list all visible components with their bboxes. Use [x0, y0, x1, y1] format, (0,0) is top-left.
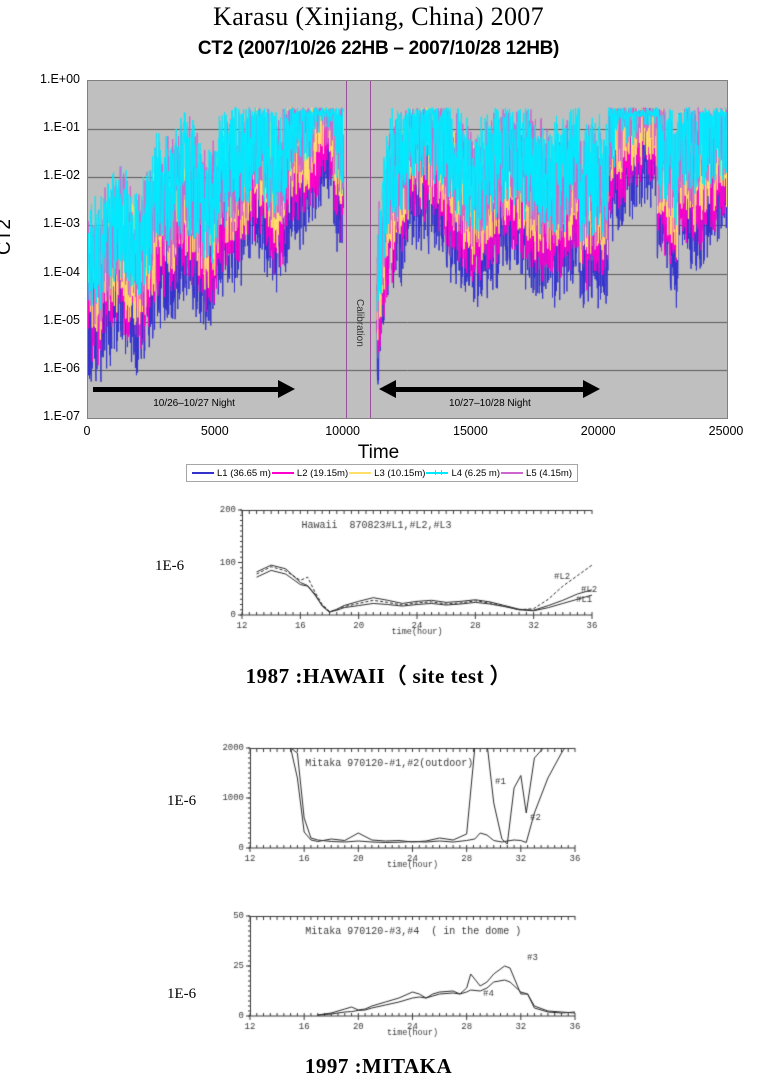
mitaka-caption: 1997 :MITAKA	[0, 1054, 757, 1079]
calibration-label: Calibration	[354, 299, 365, 347]
y-tick-label: 1.E-02	[10, 168, 80, 182]
legend-item-l5[interactable]: L5 (4.15m)	[501, 468, 572, 479]
night-2-label: 10/27–10/28 Night	[379, 398, 600, 409]
mitaka-outdoor-plot: 1E-6	[0, 730, 757, 880]
y-axis-title: CT2	[0, 219, 16, 255]
hawaii-caption: 1987 :HAWAII（ site test ）	[0, 660, 757, 690]
mitaka-dome-y-unit: 1E-6	[167, 986, 196, 1003]
hawaii-plot: 1E-6	[0, 498, 757, 643]
chart-legend: L1 (36.65 m)L2 (19.15m)L3 (10.15m)L4 (6.…	[186, 464, 578, 482]
legend-item-l2[interactable]: L2 (19.15m)	[272, 468, 348, 479]
legend-item-l1[interactable]: L1 (36.65 m)	[192, 468, 271, 479]
x-axis-title: Time	[0, 442, 757, 464]
hawaii-canvas	[196, 498, 626, 643]
y-tick-label: 1.E-05	[10, 313, 80, 327]
plot-area: Calibration 10/26–10/27 Night 10/27–10/2…	[87, 80, 728, 419]
hawaii-y-unit: 1E-6	[155, 558, 184, 575]
legend-item-l4[interactable]: L4 (6.25 m)	[426, 468, 500, 479]
y-tick-label: 1.E-06	[10, 361, 80, 375]
y-tick-label: 1.E-01	[10, 120, 80, 134]
mitaka-dome-canvas	[200, 898, 590, 1043]
y-tick-label: 1.E-04	[10, 265, 80, 279]
legend-swatch-icon	[426, 472, 448, 474]
x-tick-label: 0	[84, 424, 91, 438]
calibration-line-start	[346, 81, 347, 418]
legend-swatch-icon	[272, 472, 294, 474]
x-tick-label: 5000	[201, 424, 229, 438]
page-title: Karasu (Xinjiang, China) 2007	[0, 2, 757, 32]
legend-label: L1 (36.65 m)	[217, 468, 271, 479]
y-tick-label: 1.E-03	[10, 216, 80, 230]
x-tick-label: 25000	[709, 424, 744, 438]
y-tick-label: 1.E-07	[10, 409, 80, 423]
x-tick-label: 15000	[453, 424, 488, 438]
mitaka-outdoor-y-unit: 1E-6	[167, 793, 196, 810]
night-1-annotation: 10/26–10/27 Night	[93, 380, 295, 398]
y-tick-label: 1.E+00	[10, 72, 80, 86]
legend-swatch-icon	[192, 472, 214, 474]
legend-label: L5 (4.15m)	[526, 468, 572, 479]
night-2-annotation: 10/27–10/28 Night	[379, 380, 600, 398]
legend-swatch-icon	[349, 472, 371, 474]
page-subtitle: CT2 (2007/10/26 22HB – 2007/10/28 12HB)	[0, 38, 757, 60]
legend-item-l3[interactable]: L3 (10.15m)	[349, 468, 425, 479]
series-canvas	[88, 81, 727, 418]
legend-label: L3 (10.15m)	[374, 468, 425, 479]
calibration-line-end	[370, 81, 371, 418]
legend-label: L2 (19.15m)	[297, 468, 348, 479]
night-1-label: 10/26–10/27 Night	[93, 398, 295, 409]
legend-swatch-icon	[501, 472, 523, 474]
mitaka-outdoor-canvas	[200, 730, 590, 880]
x-tick-label: 10000	[325, 424, 360, 438]
legend-label: L4 (6.25 m)	[451, 468, 500, 479]
mitaka-dome-plot: 1E-6	[0, 898, 757, 1043]
x-tick-label: 20000	[581, 424, 616, 438]
main-chart: 1.E+001.E-011.E-021.E-031.E-041.E-051.E-…	[0, 70, 757, 490]
